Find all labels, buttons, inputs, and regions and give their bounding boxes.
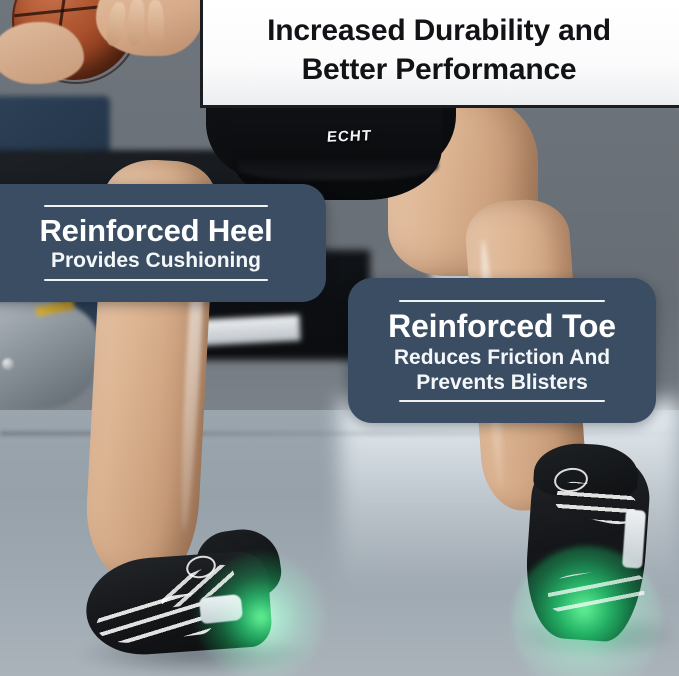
shorts-brand-logo: ECHT <box>326 127 372 146</box>
callout-toe-subtitle-line-1: Reduces Friction And <box>394 346 610 371</box>
headline-line-2: Better Performance <box>302 51 577 89</box>
product-feature-poster: ECHT Increased Durability and Better Per… <box>0 0 679 676</box>
callout-toe-subtitle-group: Reduces Friction And Prevents Blisters <box>394 346 610 396</box>
headline-line-1: Increased Durability and <box>267 12 611 50</box>
callout-card-reinforced-toe: Reinforced Toe Reduces Friction And Prev… <box>348 278 656 423</box>
headline-banner: Increased Durability and Better Performa… <box>200 0 679 108</box>
machine-bolt <box>2 358 14 370</box>
hand-finger <box>147 0 165 46</box>
callout-top-rule <box>399 300 605 302</box>
callout-toe-subtitle-line-2: Prevents Blisters <box>416 371 588 396</box>
heel-highlight-glow <box>196 552 326 676</box>
shorts-hem <box>238 158 438 180</box>
callout-bottom-rule <box>44 279 269 281</box>
callout-toe-title: Reinforced Toe <box>388 308 616 344</box>
callout-heel-title: Reinforced Heel <box>39 213 272 248</box>
callout-card-reinforced-heel: Reinforced Heel Provides Cushioning <box>0 184 326 302</box>
callout-heel-subtitle: Provides Cushioning <box>51 249 261 274</box>
callout-bottom-rule <box>399 400 605 402</box>
callout-top-rule <box>44 205 269 207</box>
